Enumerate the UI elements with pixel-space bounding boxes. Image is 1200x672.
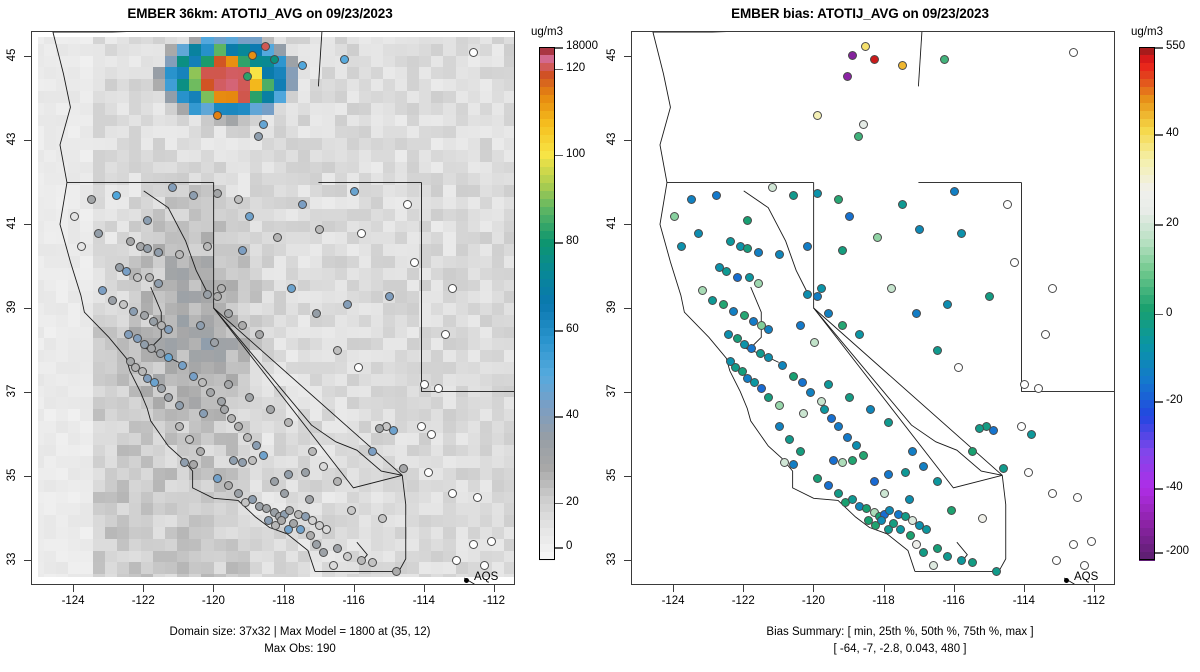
panel-model-title: EMBER 36km: ATOTIJ_AVG on 09/23/2023 <box>0 6 520 21</box>
y-tick-label: 43 <box>6 126 18 152</box>
colorbar-unit-label: ug/m3 <box>1131 26 1163 38</box>
y-tick-label: 37 <box>606 378 618 404</box>
panel-bias: EMBER bias: ATOTIJ_AVG on 09/23/2023 AQS… <box>600 0 1200 672</box>
y-tick-label: 39 <box>6 294 18 320</box>
colorbar-tick <box>555 47 563 49</box>
bias-caption-line2: [ -64, -7, -2.8, 0.043, 480 ] <box>600 643 1200 655</box>
y-tick-label: 41 <box>606 210 618 236</box>
x-tick <box>743 585 744 592</box>
colorbar-frame <box>1139 47 1155 560</box>
y-tick <box>24 560 31 561</box>
x-tick <box>1094 585 1095 592</box>
x-tick <box>73 585 74 592</box>
y-tick <box>624 392 631 393</box>
colorbar-tick-label: 20 <box>1166 217 1179 229</box>
bias-plot-area: AQS <box>631 31 1115 585</box>
colorbar-tick-label: 550 <box>1166 40 1185 52</box>
x-tick-label: -112 <box>474 595 514 607</box>
x-tick-label: -122 <box>723 595 763 607</box>
x-tick-label: -124 <box>653 595 693 607</box>
colorbar-tick <box>1155 552 1163 554</box>
y-tick <box>624 56 631 57</box>
colorbar-frame <box>539 47 555 560</box>
colorbar-tick-label: -200 <box>1166 545 1189 557</box>
colorbar-tick <box>1155 314 1163 316</box>
x-tick <box>284 585 285 592</box>
colorbar-tick-label: 0 <box>1166 307 1172 319</box>
colorbar-tick <box>1155 401 1163 403</box>
x-tick-label: -124 <box>53 595 93 607</box>
figure-root: EMBER 36km: ATOTIJ_AVG on 09/23/2023 AQS… <box>0 0 1200 672</box>
x-tick <box>673 585 674 592</box>
colorbar-tick-label: 120 <box>566 62 585 74</box>
y-tick <box>624 476 631 477</box>
colorbar-tick-label: 18000 <box>566 40 598 52</box>
colorbar-tick <box>1155 47 1163 49</box>
x-tick-label: -120 <box>793 595 833 607</box>
model-caption-line1: Domain size: 37x32 | Max Model = 1800 at… <box>0 626 600 638</box>
x-tick-label: -116 <box>934 595 974 607</box>
colorbar-tick <box>555 330 563 332</box>
x-tick <box>954 585 955 592</box>
colorbar-tick <box>555 547 563 549</box>
colorbar-tick-label: 100 <box>566 148 585 160</box>
y-tick <box>624 140 631 141</box>
model-plot-area: AQS <box>31 31 515 585</box>
colorbar-tick <box>555 69 563 71</box>
x-tick <box>884 585 885 592</box>
x-tick-label: -114 <box>1004 595 1044 607</box>
colorbar-tick-label: 40 <box>566 409 579 421</box>
y-tick <box>624 308 631 309</box>
y-tick-label: 45 <box>606 42 618 68</box>
bias-caption-line1: Bias Summary: [ min, 25th %, 50th %, 75t… <box>600 626 1200 638</box>
y-tick-label: 45 <box>6 42 18 68</box>
x-tick-label: -122 <box>123 595 163 607</box>
aqs-legend-leader <box>32 32 514 584</box>
y-tick-label: 37 <box>6 378 18 404</box>
x-tick-label: -112 <box>1074 595 1114 607</box>
x-tick <box>494 585 495 592</box>
x-tick-label: -118 <box>864 595 904 607</box>
y-tick-label: 35 <box>6 462 18 488</box>
y-tick-label: 33 <box>606 546 618 572</box>
x-tick-label: -114 <box>404 595 444 607</box>
y-tick-label: 43 <box>606 126 618 152</box>
model-caption-line2: Max Obs: 190 <box>0 643 600 655</box>
colorbar-unit-label: ug/m3 <box>531 26 563 38</box>
panel-bias-title: EMBER bias: ATOTIJ_AVG on 09/23/2023 <box>600 6 1120 21</box>
colorbar-tick <box>555 155 563 157</box>
colorbar-tick <box>555 503 563 505</box>
aqs-legend-leader-bias <box>632 32 1114 584</box>
x-tick <box>813 585 814 592</box>
colorbar-tick-label: 20 <box>566 496 579 508</box>
colorbar-tick <box>1155 488 1163 490</box>
x-tick <box>1024 585 1025 592</box>
y-tick <box>24 476 31 477</box>
panel-model: EMBER 36km: ATOTIJ_AVG on 09/23/2023 AQS… <box>0 0 600 672</box>
y-tick-label: 33 <box>6 546 18 572</box>
colorbar-tick-label: -40 <box>1166 481 1183 493</box>
y-tick <box>24 140 31 141</box>
colorbar-tick-label: 40 <box>1166 127 1179 139</box>
x-tick-label: -116 <box>334 595 374 607</box>
colorbar-tick-label: 80 <box>566 235 579 247</box>
colorbar-tick <box>555 242 563 244</box>
y-tick <box>624 560 631 561</box>
y-tick-label: 41 <box>6 210 18 236</box>
y-tick <box>24 392 31 393</box>
y-tick <box>24 224 31 225</box>
y-tick <box>24 56 31 57</box>
colorbar-tick-label: 0 <box>566 540 572 552</box>
x-tick <box>213 585 214 592</box>
y-tick-label: 39 <box>606 294 618 320</box>
x-tick <box>424 585 425 592</box>
x-tick <box>354 585 355 592</box>
colorbar-tick-label: 60 <box>566 323 579 335</box>
y-tick-label: 35 <box>606 462 618 488</box>
x-tick-label: -120 <box>193 595 233 607</box>
y-tick <box>24 308 31 309</box>
colorbar-tick <box>1155 224 1163 226</box>
colorbar-tick <box>555 416 563 418</box>
x-tick-label: -118 <box>264 595 304 607</box>
y-tick <box>624 224 631 225</box>
colorbar-tick-label: -20 <box>1166 394 1183 406</box>
colorbar-tick <box>1155 134 1163 136</box>
x-tick <box>143 585 144 592</box>
